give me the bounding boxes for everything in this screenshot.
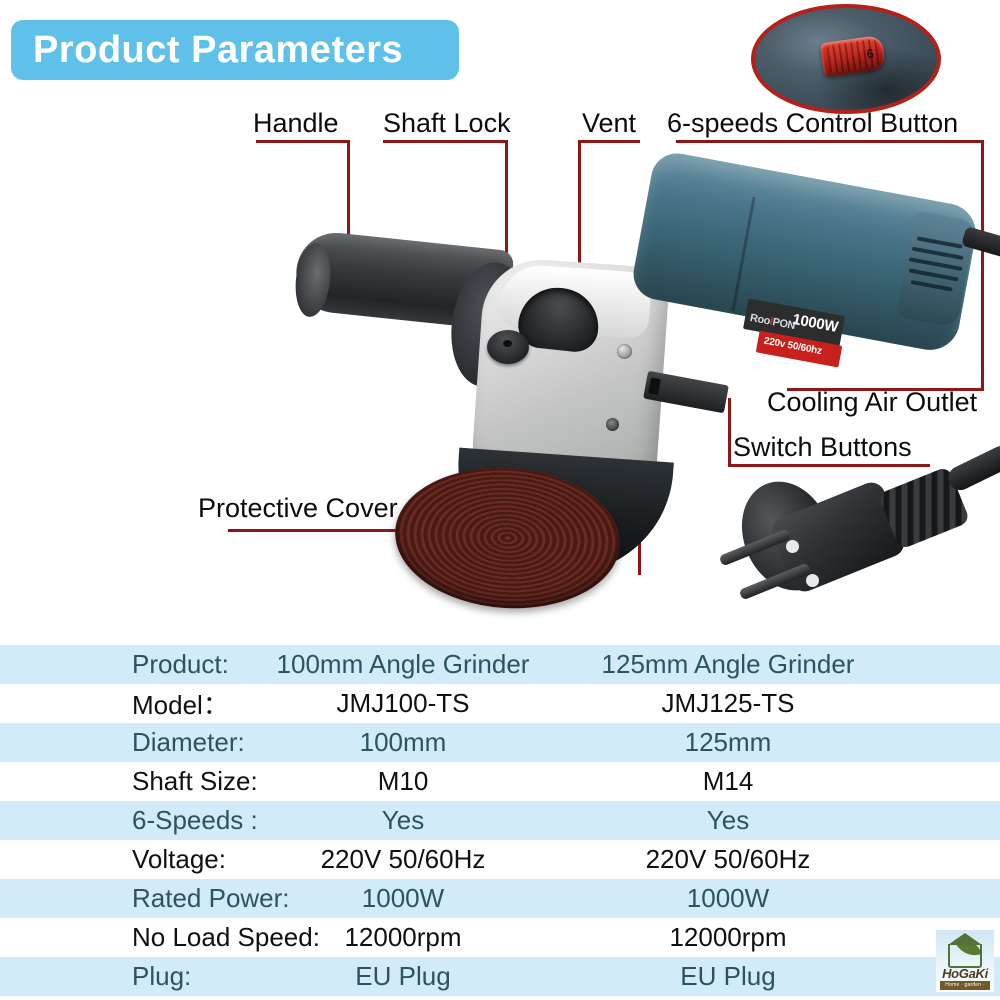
row-label: Voltage:	[0, 844, 248, 875]
row-label: Model：	[0, 685, 248, 722]
table-row: Product: 100mm Angle Grinder 125mm Angle…	[0, 645, 1000, 684]
plug-cord	[944, 442, 1000, 494]
specification-table: Product: 100mm Angle Grinder 125mm Angle…	[0, 645, 1000, 996]
house-icon	[948, 944, 982, 968]
row-value-100mm: 100mm	[248, 727, 558, 758]
plug-pin-collar	[806, 574, 819, 587]
table-row: 6-Speeds : Yes Yes	[0, 801, 1000, 840]
callout-protective-cover: Protective Cover	[198, 495, 398, 522]
row-label: No Load Speed:	[0, 922, 248, 953]
shaft-lock-center	[503, 340, 512, 347]
row-value-100mm: EU Plug	[248, 961, 558, 992]
row-label: Rated Power:	[0, 883, 248, 914]
table-row: Diameter: 100mm 125mm	[0, 723, 1000, 762]
hogaki-logo: HoGaKi Home · garden · kitchen	[936, 930, 994, 992]
cooling-air-outlet-vents	[898, 235, 971, 311]
angle-grinder-illustration: RooIPON 1000W 220v 50/60hz	[0, 0, 1000, 490]
row-value-125mm: 220V 50/60Hz	[558, 844, 898, 875]
housing-port	[606, 418, 619, 431]
nameplate-power: 1000W	[791, 311, 839, 336]
table-row: No Load Speed: 12000rpm 12000rpm	[0, 918, 1000, 957]
row-value-100mm: 12000rpm	[248, 922, 558, 953]
row-label: Product:	[0, 649, 248, 680]
eu-power-plug	[700, 450, 1000, 640]
row-value-100mm: 220V 50/60Hz	[248, 844, 558, 875]
callout-protective-cover-label: Protective Cover	[198, 495, 398, 522]
row-value-125mm: 12000rpm	[558, 922, 898, 953]
row-label: Plug:	[0, 961, 248, 992]
plug-pin-collar	[786, 540, 799, 553]
row-value-125mm: M14	[558, 766, 898, 797]
table-row: Model： JMJ100-TS JMJ125-TS	[0, 684, 1000, 723]
nameplate-brand: RooIPON	[749, 312, 796, 332]
row-value-125mm: Yes	[558, 805, 898, 836]
logo-tagline: Home · garden · kitchen	[940, 981, 990, 990]
logo-brand-name: HoGaKi	[936, 966, 994, 981]
row-value-100mm: 100mm Angle Grinder	[248, 649, 558, 680]
row-value-100mm: JMJ100-TS	[248, 688, 558, 719]
product-parameters-page: Product Parameters 6 Handle Shaft Lock V…	[0, 0, 1000, 1000]
table-row: Voltage: 220V 50/60Hz 220V 50/60Hz	[0, 840, 1000, 879]
table-row: Rated Power: 1000W 1000W	[0, 879, 1000, 918]
row-value-125mm: 1000W	[558, 883, 898, 914]
housing-screw	[617, 344, 632, 359]
shaft-lock-button	[487, 330, 529, 364]
row-label: Shaft Size:	[0, 766, 248, 797]
table-row: Plug: EU Plug EU Plug	[0, 957, 1000, 996]
row-value-100mm: M10	[248, 766, 558, 797]
row-label: Diameter:	[0, 727, 248, 758]
table-row: Shaft Size: M10 M14	[0, 762, 1000, 801]
row-value-100mm: 1000W	[248, 883, 558, 914]
row-value-125mm: 125mm Angle Grinder	[558, 649, 898, 680]
row-label: 6-Speeds :	[0, 805, 248, 836]
row-value-125mm: EU Plug	[558, 961, 898, 992]
row-value-125mm: 125mm	[558, 727, 898, 758]
row-value-100mm: Yes	[248, 805, 558, 836]
row-value-125mm: JMJ125-TS	[558, 688, 898, 719]
